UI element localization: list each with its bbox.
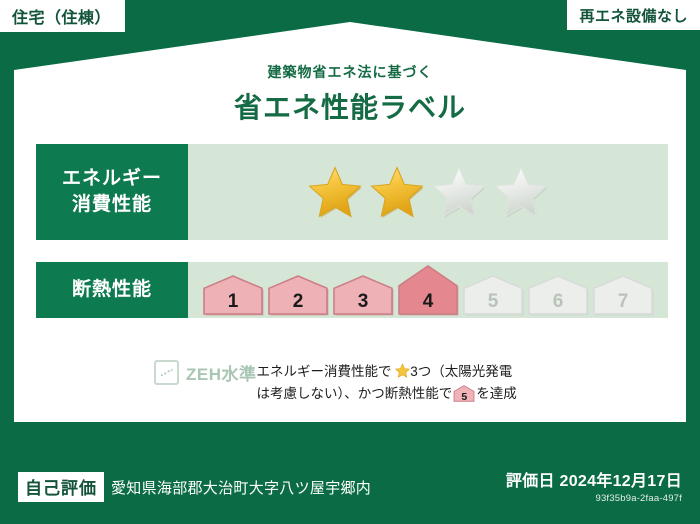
inline-star-icon bbox=[395, 363, 410, 378]
star-rating bbox=[307, 164, 549, 220]
star-empty-icon bbox=[431, 164, 487, 220]
star-filled-icon bbox=[369, 164, 425, 220]
insulation-level-3: 3 bbox=[332, 274, 394, 316]
inline-level-badge: 5 bbox=[453, 385, 475, 402]
insulation-level-number: 7 bbox=[592, 292, 654, 311]
energy-label-line1: エネルギー bbox=[62, 166, 162, 192]
insulation-level-7: 7 bbox=[592, 274, 654, 316]
insulation-label-text: 断熱性能 bbox=[72, 277, 152, 303]
achievement-note: エネルギー消費性能で 3つ（太陽光発電 は考慮しない）、かつ断熱性能で 5 を達… bbox=[257, 360, 669, 406]
insulation-level-4: 4 bbox=[397, 264, 459, 316]
star-empty-icon bbox=[493, 164, 549, 220]
property-address: 愛知県海部郡大治町大字八ツ屋宇郷内 bbox=[111, 477, 371, 498]
renewable-energy-label: 再エネ設備なし bbox=[579, 5, 688, 26]
note-part1: エネルギー消費性能で bbox=[257, 364, 392, 379]
document-id: 93f35b9a-2faa-497f bbox=[506, 493, 682, 504]
energy-performance-label: エネルギー 消費性能 bbox=[36, 144, 188, 240]
insulation-performance-value: 1234567 bbox=[188, 262, 668, 318]
zeh-note-block: ZEH水準 エネルギー消費性能で 3つ（太陽光発電 は考慮しない）、かつ断熱性能… bbox=[36, 360, 668, 406]
building-type-label: 住宅（住棟） bbox=[12, 4, 111, 28]
insulation-level-number: 6 bbox=[527, 292, 589, 311]
energy-performance-row: エネルギー 消費性能 bbox=[36, 144, 668, 240]
star-filled-icon bbox=[307, 164, 363, 220]
energy-performance-value bbox=[188, 144, 668, 240]
evaluation-type-chip: 自己評価 bbox=[18, 472, 104, 502]
insulation-level-2: 2 bbox=[267, 274, 329, 316]
zeh-standard-label: ZEH水準 bbox=[186, 360, 257, 385]
label-canvas: 住宅（住棟） 再エネ設備なし 建築物省エネ法に基づく 省エネ性能ラベル エネルギ… bbox=[0, 0, 700, 524]
footer: 自己評価 愛知県海部郡大治町大字八ツ屋宇郷内 評価日 2024年12月17日 9… bbox=[0, 428, 700, 524]
note-star-count: 3つ（太陽光発電 bbox=[410, 364, 512, 379]
insulation-level-number: 5 bbox=[462, 292, 524, 311]
building-type-tag: 住宅（住棟） bbox=[0, 0, 125, 32]
footer-left: 自己評価 愛知県海部郡大治町大字八ツ屋宇郷内 bbox=[18, 472, 371, 502]
evaluation-date: 評価日 2024年12月17日 bbox=[506, 467, 682, 491]
insulation-level-number: 2 bbox=[267, 292, 329, 311]
insulation-performance-row: 断熱性能 1234567 bbox=[36, 262, 668, 318]
page-subtitle: 建築物省エネ法に基づく bbox=[0, 62, 700, 82]
insulation-level-number: 3 bbox=[332, 292, 394, 311]
insulation-level-1: 1 bbox=[202, 274, 264, 316]
insulation-level-5: 5 bbox=[462, 274, 524, 316]
insulation-performance-label: 断熱性能 bbox=[36, 262, 188, 318]
insulation-level-number: 1 bbox=[202, 292, 264, 311]
insulation-level-scale: 1234567 bbox=[202, 264, 654, 316]
inline-level-number: 5 bbox=[453, 392, 475, 403]
zeh-standard-indicator: ZEH水準 bbox=[36, 360, 257, 385]
zeh-icon bbox=[154, 360, 179, 385]
insulation-level-number: 4 bbox=[397, 292, 459, 311]
footer-right: 評価日 2024年12月17日 93f35b9a-2faa-497f bbox=[506, 467, 682, 504]
page-title: 建築物省エネ法に基づく 省エネ性能ラベル bbox=[0, 62, 700, 126]
note-part2: は考慮しない）、かつ断熱性能で bbox=[257, 386, 453, 401]
page-title-main: 省エネ性能ラベル bbox=[0, 86, 700, 126]
note-part3: を達成 bbox=[476, 386, 517, 401]
renewable-energy-tag: 再エネ設備なし bbox=[567, 0, 700, 30]
energy-label-line2: 消費性能 bbox=[72, 192, 152, 218]
insulation-level-6: 6 bbox=[527, 274, 589, 316]
